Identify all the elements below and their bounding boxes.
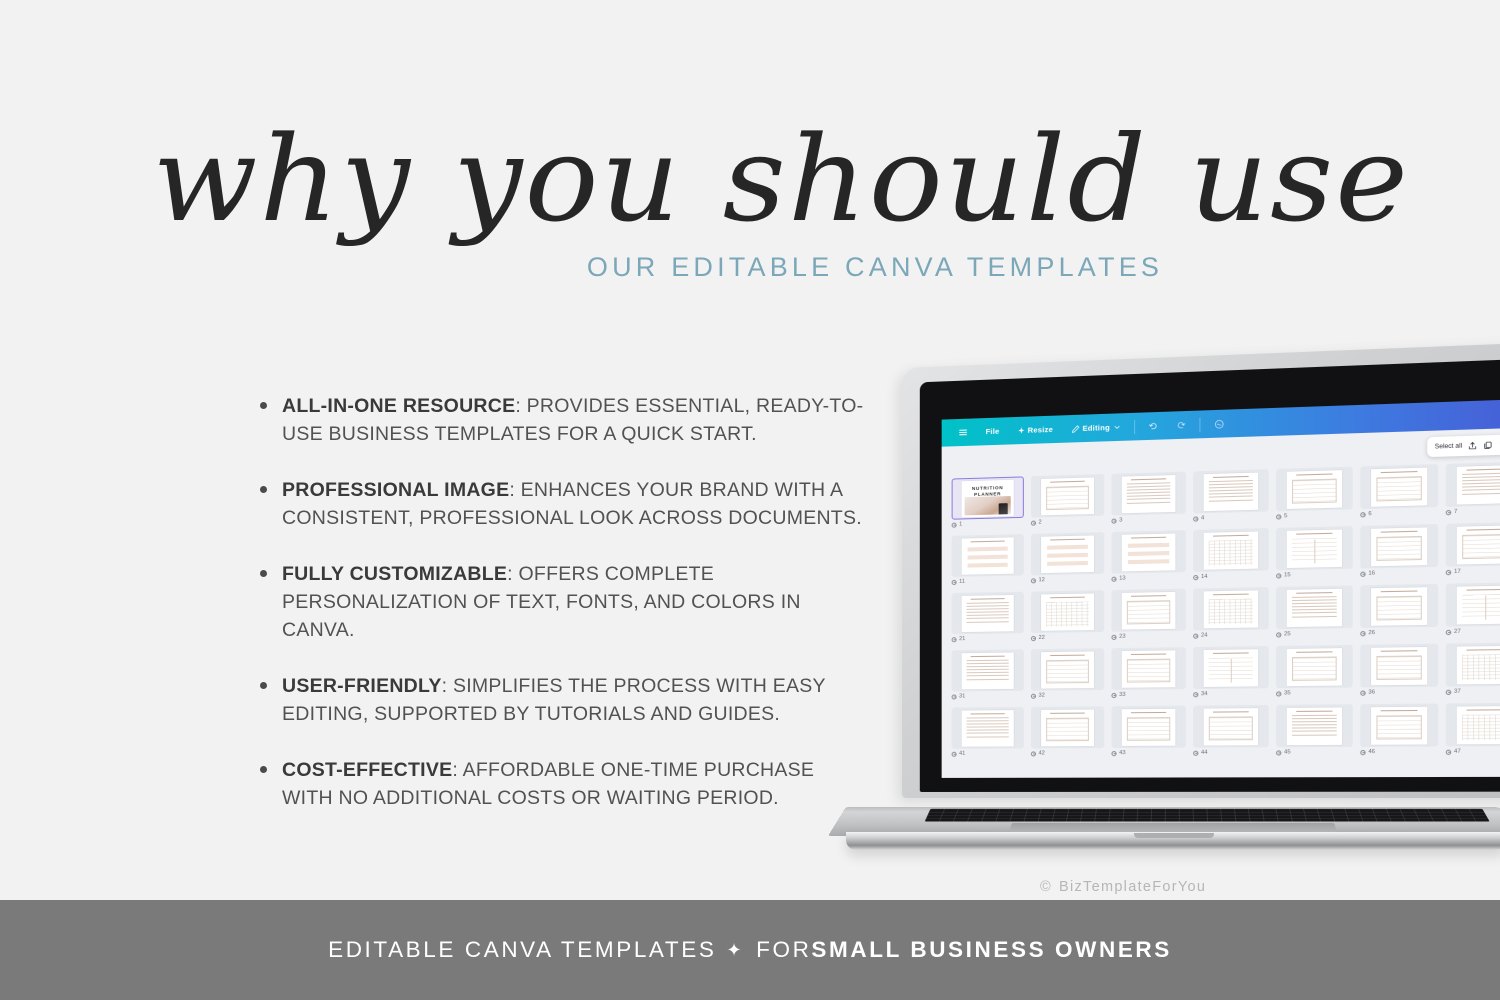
page-preview [1371,527,1427,566]
page-number-row: 4 [1193,514,1266,522]
page-number-row: 6 [1360,509,1436,517]
page-timer-icon [1193,574,1198,579]
page-thumbnail[interactable] [1360,644,1438,688]
page-number: 3 [1119,517,1122,523]
page-number: 5 [1284,513,1287,519]
page-number: 14 [1201,574,1208,580]
laptop-latch-notch [1134,833,1214,838]
page-timer-icon [1193,516,1198,521]
chevron-down-icon [1113,424,1120,431]
mini-table [1292,478,1337,503]
page-number-row: 7 [1446,507,1500,515]
page-number-row: 15 [1276,571,1351,579]
page-thumbnail[interactable] [1193,587,1269,631]
page-preview [962,537,1014,574]
page-thumbnail[interactable] [1111,589,1185,632]
mini-table [1376,476,1421,501]
page-thumbnail[interactable] [1276,645,1353,688]
page-preview [1204,708,1259,745]
page-timer-icon [1360,571,1365,576]
page-cell[interactable]: 27 [1441,580,1500,642]
page-cell[interactable]: 13 [1107,528,1189,588]
selection-toolbar: Select all [1427,434,1500,457]
page-number-row: 22 [1031,634,1102,641]
page-timer-icon [952,751,957,756]
benefit-term: COST-EFFECTIVE [282,759,452,781]
mini-table [1127,658,1170,682]
page-thumbnail[interactable] [1446,522,1500,567]
resize-label: Resize [1028,425,1053,435]
page-thumbnail[interactable] [1360,704,1438,747]
page-number-row: 42 [1031,750,1102,756]
select-all-button[interactable]: Select all [1435,442,1462,450]
page-number-row: 12 [1031,576,1102,584]
page-cell[interactable]: 41 [948,705,1027,763]
mini-table [1127,600,1170,624]
page-preview [1041,651,1094,688]
page-timer-icon [1446,569,1451,574]
page-cell[interactable]: 24 [1189,585,1272,645]
page-thumbnail[interactable] [1031,706,1104,748]
page-thumbnail[interactable] [1111,530,1185,574]
mini-grid [1209,598,1253,623]
page-number-row: 46 [1360,749,1436,756]
mini-lines [967,717,1009,740]
page-thumbnail[interactable] [1360,464,1438,509]
page-thumbnail[interactable] [1446,582,1500,627]
page-thumbnail[interactable] [1276,467,1353,512]
page-preview [1287,529,1342,568]
page-cell[interactable]: 6 [1356,462,1441,524]
page-number: 25 [1284,631,1291,637]
undo-arrow-icon[interactable] [1139,421,1167,431]
page-timer-icon [1031,693,1036,698]
toolbar-divider [1134,419,1135,433]
page-cell[interactable]: 17 [1441,520,1500,582]
page-thumbnail[interactable] [1031,648,1104,690]
page-number: 24 [1201,632,1208,638]
page-preview [1457,706,1500,744]
laptop-base [824,768,1500,858]
page-cell[interactable]: 22 [1027,588,1107,647]
page-thumbnail[interactable] [952,707,1024,749]
page-cell[interactable]: 31 [948,647,1027,705]
page-thumbnail[interactable] [1446,703,1500,747]
page-subtitle: OUR EDITABLE CANVA TEMPLATES [0,252,1500,283]
page-cell[interactable]: NUTRITIONPLANNER1 [948,474,1027,534]
page-number-row: 37 [1446,688,1500,695]
page-cell[interactable]: 44 [1189,703,1272,762]
page-preview [1287,470,1342,509]
page-preview [1122,591,1176,629]
file-menu-label: File [986,427,1000,437]
page-timer-icon [1446,689,1451,694]
page-preview [1204,531,1259,569]
page-preview [1204,649,1259,687]
benefit-item: PROFESSIONAL IMAGE: ENHANCES YOUR BRAND … [256,476,866,532]
page-cell[interactable]: 11 [948,532,1027,591]
share-export-icon[interactable] [1468,441,1478,451]
benefit-term: ALL-IN-ONE RESOURCE [282,395,515,417]
benefit-text: PROFESSIONAL IMAGE: ENHANCES YOUR BRAND … [282,476,866,532]
page-timer-icon [952,694,957,699]
mini-lines [1127,482,1170,506]
canva-pages-panel: Select all NUTRITIONPLANNER1234567811121… [942,426,1500,778]
page-timer-icon [1446,629,1451,634]
mini-grid [1046,601,1089,626]
cover-photo [965,495,1011,514]
laptop-lid: File Resize Editing [902,341,1500,798]
page-number-row: 16 [1360,569,1436,577]
page-timer-icon [1446,749,1451,754]
page-timer-icon [1193,633,1198,638]
benefit-text: COST-EFFECTIVE: AFFORDABLE ONE-TIME PURC… [282,756,866,812]
mini-table [1376,715,1421,739]
page-thumbnail[interactable] [952,534,1024,577]
page-thumbnail[interactable] [1193,528,1269,572]
page-preview [1457,645,1500,684]
mini-table [1046,659,1089,683]
mini-lines [1462,472,1500,497]
benefit-term: PROFESSIONAL IMAGE [282,479,509,501]
mini-lines [1209,479,1253,503]
page-timer-icon [1111,751,1116,756]
benefits-list: ALL-IN-ONE RESOURCE: PROVIDES ESSENTIAL,… [256,392,866,840]
benefit-item: ALL-IN-ONE RESOURCE: PROVIDES ESSENTIAL,… [256,392,866,448]
page-timer-icon [1276,573,1281,578]
page-timer-icon [952,637,957,642]
page-cell[interactable]: 12 [1027,530,1107,590]
page-number-row: 14 [1193,573,1266,581]
footer-text: EDITABLE CANVA TEMPLATES ✦ FOR SMALL BUS… [328,937,1172,963]
page-cell[interactable]: 21 [948,590,1027,649]
page-title-block: why you should use OUR EDITABLE CANVA TE… [0,120,1500,283]
page-number: 21 [959,636,965,642]
laptop-keyboard [925,809,1490,822]
mini-table [1376,655,1421,680]
page-number-row: 47 [1446,748,1500,755]
page-preview [1457,465,1500,505]
mini-table [1462,533,1500,558]
page-number: 43 [1119,750,1125,756]
mini-table [1127,717,1170,741]
page-number-row: 11 [952,578,1022,585]
toolbar-divider-2 [1199,417,1200,431]
page-preview [962,710,1014,747]
bullet-icon [260,570,267,577]
page-number: 22 [1039,635,1045,641]
page-cell[interactable]: 46 [1356,701,1441,761]
file-menu-button[interactable]: File [977,426,1009,436]
page-timer-icon [952,522,957,527]
page-timer-icon [1031,578,1036,583]
page-preview [1371,706,1427,744]
redo-arrow-icon[interactable] [1167,420,1195,430]
page-cell[interactable]: 32 [1027,646,1107,705]
page-preview [1122,708,1176,745]
benefit-item: FULLY CUSTOMIZABLE: OFFERS COMPLETE PERS… [256,560,866,644]
page-cell[interactable]: 16 [1356,522,1441,584]
bullet-icon [260,766,267,773]
page-cell[interactable]: 3 [1107,469,1189,530]
canva-page-grid[interactable]: NUTRITIONPLANNER123456781112131415161718… [948,458,1500,778]
diamond-icon: ✦ [716,940,756,961]
cloud-sync-icon[interactable] [1204,418,1233,429]
page-preview [1371,587,1427,626]
page-number-row: 44 [1193,749,1266,755]
bullet-icon [260,682,267,689]
laptop-screen: File Resize Editing [942,397,1500,778]
page-number: 41 [959,751,965,757]
page-thumbnail[interactable] [1276,704,1353,747]
page-number-row: 31 [952,693,1022,700]
page-timer-icon [1031,751,1036,756]
page-timer-icon [1193,692,1198,697]
page-preview [1041,593,1094,630]
mini-lines [967,659,1009,682]
page-cell[interactable]: 26 [1356,582,1441,643]
page-timer-icon [1111,576,1116,581]
watermark: © BizTemplateForYou [1040,879,1206,895]
page-number: 44 [1201,750,1208,756]
page-thumbnail[interactable] [1276,585,1353,629]
page-cell[interactable]: 2 [1027,472,1107,532]
page-number: 26 [1368,630,1375,636]
page-number-row: 41 [952,750,1022,756]
bullet-icon [260,486,267,493]
page-cell[interactable]: 35 [1272,643,1356,703]
mini-table [1209,716,1253,740]
pencil-icon [1071,424,1079,432]
page-number: 1 [959,521,962,527]
page-number: 16 [1368,570,1375,576]
page-number-row: 3 [1111,516,1183,524]
page-number-row: 2 [1031,518,1102,526]
page-number: 7 [1454,509,1457,515]
page-cell[interactable]: 14 [1189,526,1272,587]
mini-table [1376,535,1421,560]
page-number: 37 [1454,689,1461,695]
page-preview [962,652,1014,689]
page-number-row: 45 [1276,749,1351,756]
page-number: 36 [1368,689,1375,695]
footer-mid: FOR [756,937,811,963]
page-number: 34 [1201,691,1208,697]
page-number-row: 35 [1276,690,1351,697]
mini-table [1292,656,1337,680]
page-thumbnail[interactable] [1031,532,1104,575]
page-preview [1371,646,1427,684]
page-number-row: 26 [1360,629,1436,636]
laptop-mockup: File Resize Editing [824,368,1500,868]
page-preview [962,594,1014,631]
page-thumbnail[interactable] [1031,590,1104,633]
page-preview [1287,588,1342,626]
page-number-row: 23 [1111,633,1183,640]
page-preview [1041,709,1094,746]
benefit-text: FULLY CUSTOMIZABLE: OFFERS COMPLETE PERS… [282,560,866,644]
page-preview [1122,533,1176,571]
page-timer-icon [1111,634,1116,639]
page-number-row: 36 [1360,689,1436,696]
page-number-row: 33 [1111,691,1183,698]
page-number: 4 [1201,515,1204,521]
mini-table [1046,717,1089,741]
page-cell[interactable]: 47 [1441,701,1500,762]
page-preview [1041,535,1094,573]
page-cell[interactable]: 36 [1356,642,1441,703]
page-timer-icon [1193,750,1198,755]
editing-mode-button[interactable]: Editing [1062,422,1129,433]
page-thumbnail[interactable] [1031,474,1104,518]
footer-audience: SMALL BUSINESS OWNERS [811,937,1171,963]
page-number: 11 [959,579,965,585]
page-preview [1287,707,1342,745]
page-number: 15 [1284,572,1291,578]
page-number-row: 27 [1446,628,1500,635]
page-number: 12 [1039,577,1045,583]
mini-lines [1292,714,1337,737]
copyright-icon: © [1040,879,1052,895]
hamburger-menu-icon[interactable] [950,427,977,437]
page-thumbnail[interactable] [1111,647,1185,690]
page-thumbnail[interactable] [1111,472,1185,516]
page-cell[interactable]: 5 [1272,464,1356,525]
page-thumbnail[interactable] [1360,524,1438,569]
mini-grid [1209,539,1253,565]
mini-table [1046,485,1089,510]
laptop-bezel: File Resize Editing [920,357,1500,792]
bullet-icon [260,402,267,409]
page-preview [1204,590,1259,628]
page-number: 17 [1454,569,1461,575]
page-timer-icon [1446,509,1451,514]
page-number-row: 21 [952,635,1022,642]
page-number: 42 [1039,750,1045,756]
page-thumbnail[interactable] [1276,526,1353,570]
benefit-term: USER-FRIENDLY [282,675,442,697]
page-thumbnail[interactable]: NUTRITIONPLANNER [952,476,1024,519]
duplicate-icon[interactable] [1483,440,1493,450]
page-thumbnail[interactable] [1446,462,1500,507]
footer-lead: EDITABLE CANVA TEMPLATES [328,937,716,963]
page-timer-icon [1276,691,1281,696]
page-cell[interactable]: 43 [1107,704,1189,763]
page-timer-icon [1111,518,1116,523]
page-cell[interactable]: 7 [1441,459,1500,521]
page-number-row: 5 [1276,512,1351,520]
page-cell[interactable]: 15 [1272,524,1356,585]
page-number-row: 1 [952,520,1022,528]
page-thumbnail[interactable] [1193,469,1269,513]
mini-lines [967,602,1009,625]
page-timer-icon [1031,635,1036,640]
page-number: 31 [959,693,965,699]
page-timer-icon [1360,690,1365,695]
page-preview [1204,472,1259,511]
page-thumbnail[interactable] [1111,706,1185,748]
page-number: 45 [1284,749,1291,755]
page-thumbnail[interactable] [1193,705,1269,748]
page-preview [1122,474,1176,512]
page-number: 32 [1039,693,1045,699]
page-preview [1287,648,1342,686]
page-preview [1122,650,1176,687]
page-thumbnail[interactable] [952,649,1024,691]
page-number-row: 32 [1031,692,1102,699]
page-cell[interactable]: 23 [1107,586,1189,646]
page-thumbnail[interactable] [1360,584,1438,628]
page-timer-icon [1276,632,1281,637]
page-thumbnail[interactable] [952,592,1024,635]
page-preview [1371,467,1427,506]
page-number-row: 25 [1276,630,1351,637]
page-number-row: 43 [1111,750,1183,756]
page-cell[interactable]: 33 [1107,645,1189,704]
page-timer-icon [1360,749,1365,754]
mini-table [1376,595,1421,620]
page-number: 35 [1284,690,1291,696]
page-preview [1457,585,1500,624]
benefit-text: USER-FRIENDLY: SIMPLIFIES THE PROCESS WI… [282,672,866,728]
page-number: 27 [1454,629,1461,635]
page-timer-icon [1360,512,1365,517]
benefit-term: FULLY CUSTOMIZABLE [282,563,507,585]
page-thumbnail[interactable] [1446,642,1500,686]
page-cell[interactable]: 25 [1272,583,1356,644]
page-number: 47 [1454,749,1461,755]
page-number-row: 13 [1111,574,1183,582]
benefit-item: COST-EFFECTIVE: AFFORDABLE ONE-TIME PURC… [256,756,866,812]
page-cell[interactable]: 4 [1189,467,1272,528]
editing-label: Editing [1082,423,1109,433]
page-timer-icon [1360,631,1365,636]
page-number-row: 34 [1193,690,1266,697]
page-title-script: why you should use [0,120,1500,238]
page-thumbnail[interactable] [1193,646,1269,689]
benefit-item: USER-FRIENDLY: SIMPLIFIES THE PROCESS WI… [256,672,866,728]
page-timer-icon [1276,750,1281,755]
page-number: 33 [1119,692,1125,698]
page-number-row: 24 [1193,632,1266,639]
benefit-text: ALL-IN-ONE RESOURCE: PROVIDES ESSENTIAL,… [282,392,866,448]
page-preview [1457,525,1500,564]
page-preview: NUTRITIONPLANNER [962,479,1014,517]
page-timer-icon [1276,514,1281,519]
page-timer-icon [1111,692,1116,697]
page-number: 13 [1119,575,1125,581]
page-preview [1041,477,1094,515]
page-number: 6 [1368,511,1371,517]
resize-button[interactable]: Resize [1008,425,1062,436]
page-number: 46 [1368,749,1375,755]
page-cell[interactable]: 42 [1027,704,1107,762]
page-number: 23 [1119,634,1125,640]
mini-lines [1292,596,1337,620]
mini-grid [1462,654,1500,680]
footer-bar: EDITABLE CANVA TEMPLATES ✦ FOR SMALL BUS… [0,900,1500,1000]
page-cell[interactable]: 45 [1272,702,1356,762]
mini-grid [1462,714,1500,740]
page-cell[interactable]: 34 [1189,644,1272,704]
watermark-text: BizTemplateForYou [1059,879,1206,895]
sparkle-icon [1018,427,1025,434]
page-timer-icon [1031,520,1036,525]
page-number: 2 [1039,519,1042,525]
page-cell[interactable]: 37 [1441,640,1500,701]
page-number-row: 17 [1446,567,1500,575]
page-timer-icon [952,579,957,584]
